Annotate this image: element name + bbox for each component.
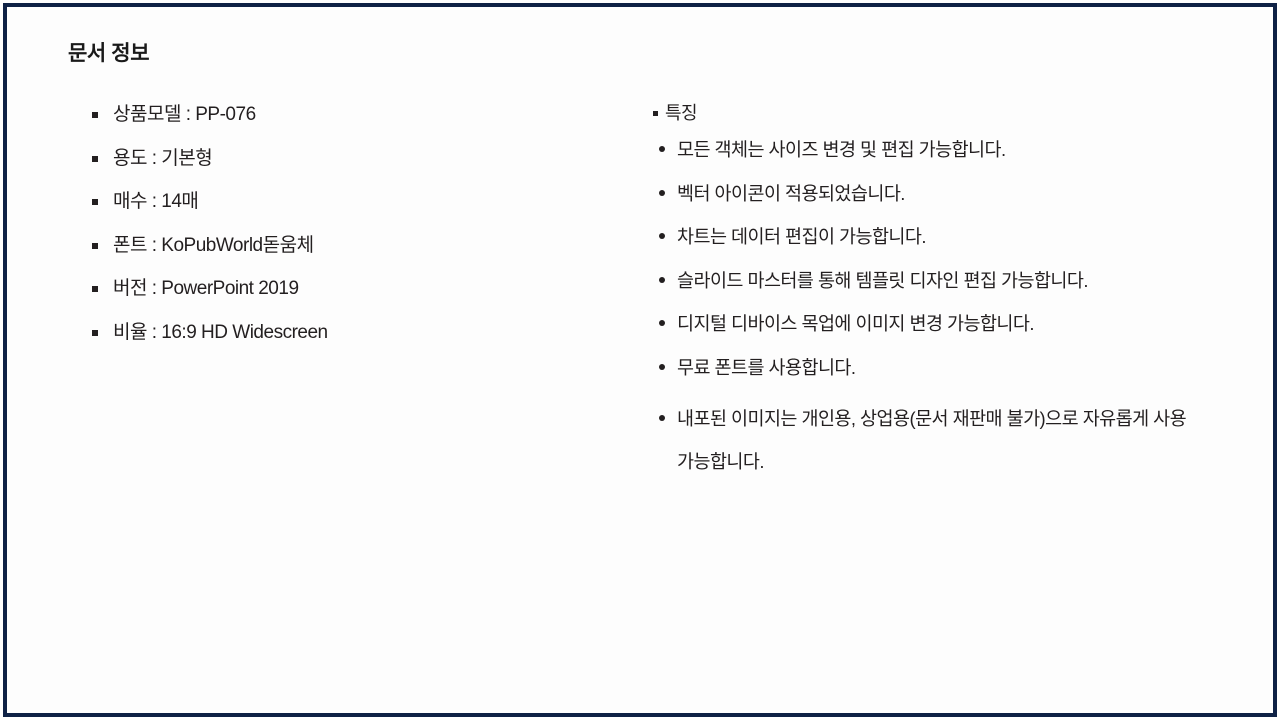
features-heading-text: 특징 bbox=[665, 103, 697, 123]
spec-item-text: 폰트 : KoPubWorld돋움체 bbox=[113, 235, 314, 256]
list-item: 매수 : 14매 bbox=[92, 188, 612, 232]
square-bullet-icon bbox=[92, 330, 98, 336]
spec-item-text: 비율 : 16:9 HD Widescreen bbox=[113, 322, 328, 343]
features-list: 특징 모든 객체는 사이즈 변경 및 편집 가능합니다. 벡터 아이콘이 적용되… bbox=[653, 101, 1213, 500]
spec-item-text: 매수 : 14매 bbox=[113, 191, 198, 212]
list-item: 슬라이드 마스터를 통해 템플릿 디자인 편집 가능합니다. bbox=[653, 267, 1202, 294]
list-item: 폰트 : KoPubWorld돋움체 bbox=[92, 232, 612, 276]
list-item: 내포된 이미지는 개인용, 상업용(문서 재판매 불가)으로 자유롭게 사용 가… bbox=[653, 397, 1192, 483]
slide-border-top bbox=[3, 3, 1277, 7]
list-item: 상품모델 : PP-076 bbox=[92, 101, 612, 145]
list-item: 무료 폰트를 사용합니다. bbox=[653, 354, 1202, 381]
slide-border-left bbox=[3, 3, 7, 717]
list-item: 벡터 아이콘이 적용되었습니다. bbox=[653, 180, 1202, 207]
list-item: 비율 : 16:9 HD Widescreen bbox=[92, 319, 612, 363]
list-item: 디지털 디바이스 목업에 이미지 변경 가능합니다. bbox=[653, 310, 1202, 337]
round-bullet-icon bbox=[659, 233, 665, 239]
slide-canvas: 문서 정보 상품모델 : PP-076 용도 : 기본형 매수 : 14매 폰트… bbox=[0, 0, 1280, 720]
round-bullet-icon bbox=[659, 190, 665, 196]
round-bullet-icon bbox=[659, 146, 665, 152]
square-bullet-icon bbox=[92, 286, 98, 292]
feature-item-text: 차트는 데이터 편집이 가능합니다. bbox=[677, 226, 926, 247]
feature-item-text: 디지털 디바이스 목업에 이미지 변경 가능합니다. bbox=[677, 313, 1034, 334]
feature-item-text: 모든 객체는 사이즈 변경 및 편집 가능합니다. bbox=[677, 139, 1006, 160]
round-bullet-icon bbox=[659, 364, 665, 370]
slide-border-bottom bbox=[3, 713, 1277, 717]
square-bullet-icon bbox=[92, 156, 98, 162]
square-bullet-icon bbox=[92, 112, 98, 118]
spec-item-text: 용도 : 기본형 bbox=[113, 148, 212, 169]
spec-item-text: 상품모델 : PP-076 bbox=[113, 104, 256, 125]
round-bullet-icon bbox=[659, 277, 665, 283]
slide-border-right bbox=[1273, 3, 1277, 717]
document-spec-list: 상품모델 : PP-076 용도 : 기본형 매수 : 14매 폰트 : KoP… bbox=[92, 101, 612, 362]
page-title: 문서 정보 bbox=[68, 41, 149, 66]
feature-item-text: 슬라이드 마스터를 통해 템플릿 디자인 편집 가능합니다. bbox=[677, 270, 1088, 291]
spec-item-text: 버전 : PowerPoint 2019 bbox=[113, 278, 299, 299]
square-bullet-icon bbox=[92, 199, 98, 205]
list-item: 차트는 데이터 편집이 가능합니다. bbox=[653, 223, 1202, 250]
list-item: 버전 : PowerPoint 2019 bbox=[92, 275, 612, 319]
feature-item-text: 내포된 이미지는 개인용, 상업용(문서 재판매 불가)으로 자유롭게 사용 가… bbox=[677, 408, 1186, 472]
features-heading: 특징 bbox=[653, 101, 1213, 136]
square-bullet-icon bbox=[92, 243, 98, 249]
feature-item-text: 벡터 아이콘이 적용되었습니다. bbox=[677, 183, 905, 204]
round-bullet-icon bbox=[659, 415, 665, 421]
round-bullet-icon bbox=[659, 320, 665, 326]
feature-item-text: 무료 폰트를 사용합니다. bbox=[677, 357, 855, 378]
list-item: 모든 객체는 사이즈 변경 및 편집 가능합니다. bbox=[653, 136, 1202, 163]
list-item: 용도 : 기본형 bbox=[92, 145, 612, 189]
square-bullet-icon bbox=[653, 111, 658, 116]
